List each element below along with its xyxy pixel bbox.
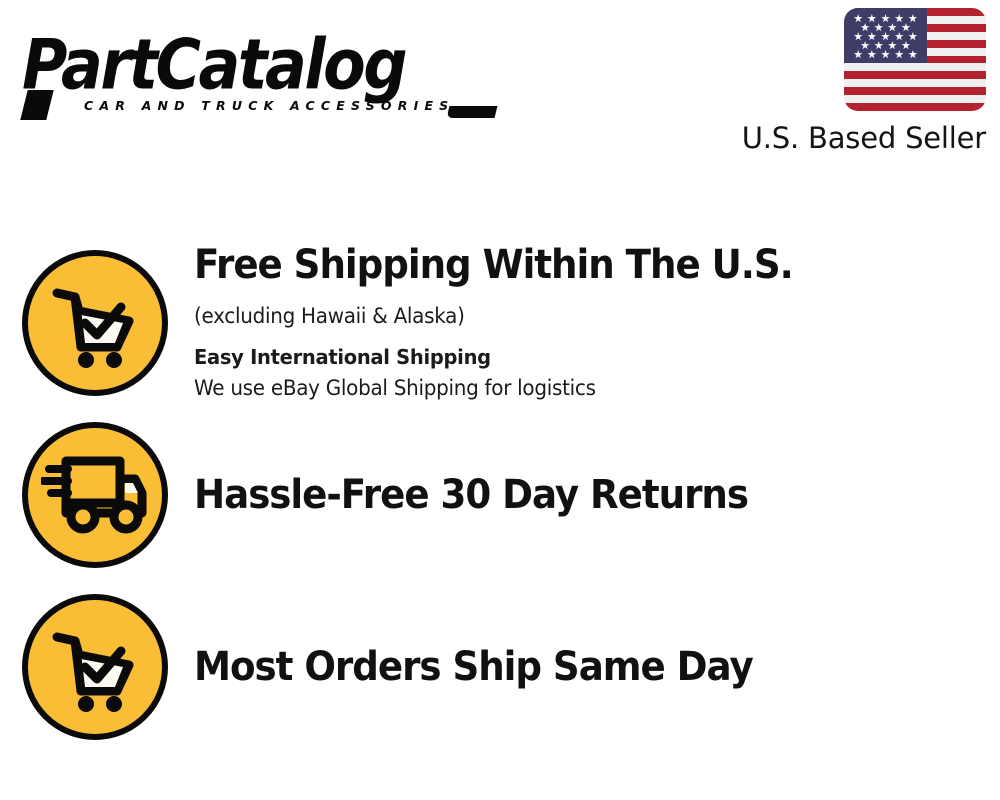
flag-stars: [844, 8, 927, 63]
feature-row-returns: Hassle-Free 30 Day Returns: [0, 420, 1000, 570]
feature-text-wrap: Most Orders Ship Same Day: [190, 644, 1000, 691]
feature-icon-wrap: [0, 422, 190, 568]
feature-row-free-shipping: Free Shipping Within The U.S. (excluding…: [0, 248, 1000, 398]
delivery-truck-icon: [22, 422, 168, 568]
brand-logo: PartCatalog CAR AND TRUCK ACCESSORIES: [22, 26, 492, 116]
brand-tagline: CAR AND TRUCK ACCESSORIES: [84, 98, 454, 113]
feature-text-wrap: Free Shipping Within The U.S. (excluding…: [190, 242, 1000, 404]
shopping-cart-check-icon: [22, 250, 168, 396]
logo-swoosh-right-decor: [447, 106, 498, 118]
feature-title: Free Shipping Within The U.S.: [194, 242, 944, 289]
flag-canton: [844, 8, 927, 63]
feature-text-wrap: Hassle-Free 30 Day Returns: [190, 472, 1000, 519]
us-flag-icon: [844, 8, 986, 111]
feature-sub-bold: Easy International Shipping: [194, 342, 960, 373]
promo-banner: PartCatalog CAR AND TRUCK ACCESSORIES: [0, 0, 1000, 800]
feature-subnote: (excluding Hawaii & Alaska): [194, 301, 960, 332]
feature-row-same-day: Most Orders Ship Same Day: [0, 592, 1000, 742]
feature-title: Most Orders Ship Same Day: [194, 644, 944, 691]
feature-icon-wrap: [0, 594, 190, 740]
us-based-seller-badge: U.S. Based Seller: [716, 8, 986, 155]
seller-badge-label: U.S. Based Seller: [716, 121, 986, 155]
banner-header: PartCatalog CAR AND TRUCK ACCESSORIES: [0, 0, 1000, 175]
feature-icon-wrap: [0, 250, 190, 396]
feature-sub-detail: We use eBay Global Shipping for logistic…: [194, 373, 960, 404]
brand-wordmark: PartCatalog: [22, 26, 492, 104]
feature-title: Hassle-Free 30 Day Returns: [194, 472, 944, 519]
shopping-cart-check-icon: [22, 594, 168, 740]
